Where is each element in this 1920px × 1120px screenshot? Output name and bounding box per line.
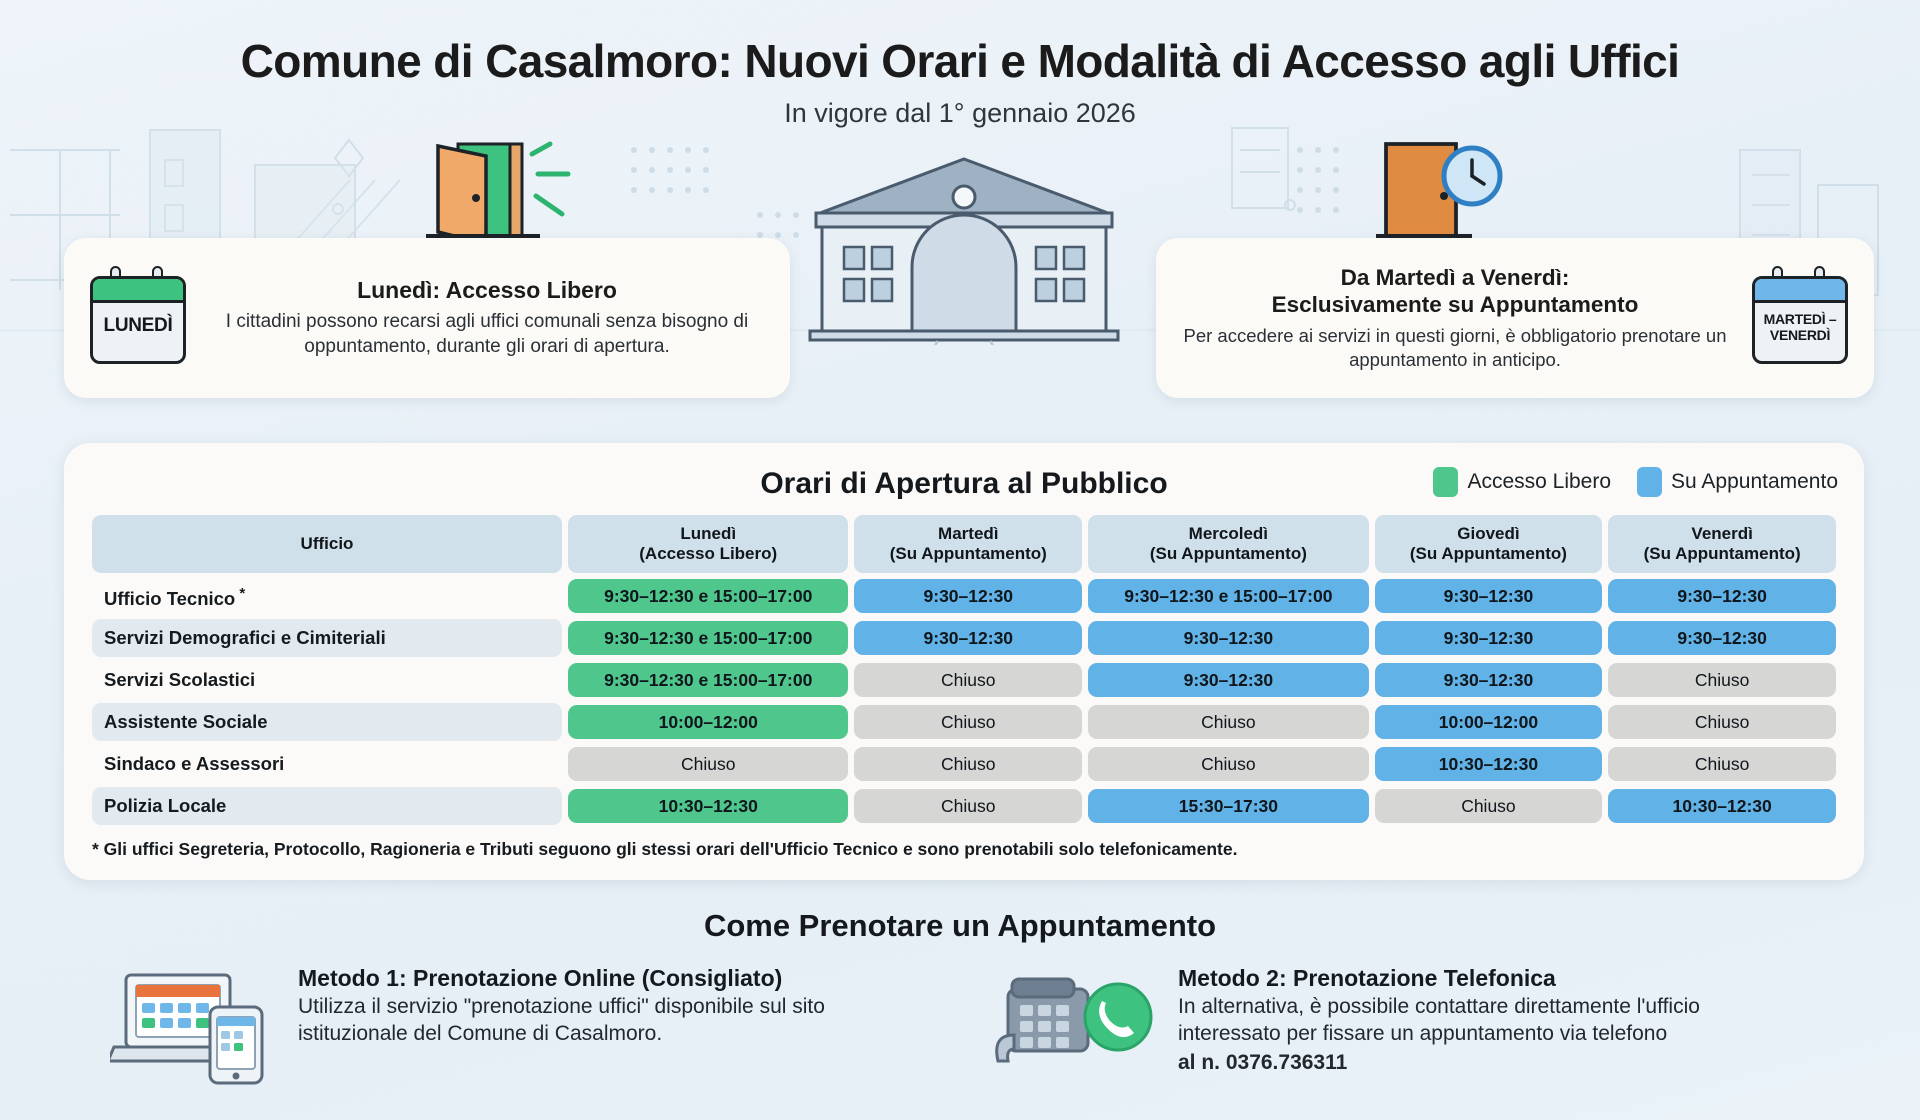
- office-cell: Servizi Scolastici: [92, 661, 562, 699]
- schedule-chip-appt: 9:30–12:30: [1375, 621, 1603, 655]
- schedule-chip-appt: 10:30–12:30: [1375, 747, 1603, 781]
- card-title-line2: Esclusivamente su Appuntamento: [1178, 291, 1732, 318]
- card-title-monday: Lunedì: Accesso Libero: [206, 277, 768, 305]
- office-cell: Assistente Sociale: [92, 703, 562, 741]
- howto-title: Come Prenotare un Appuntamento: [0, 908, 1920, 944]
- schedule-chip-appt: 10:30–12:30: [1608, 789, 1836, 823]
- schedule-cell: 9:30–12:30: [1608, 577, 1836, 615]
- page-title: Comune di Casalmoro: Nuovi Orari e Modal…: [0, 34, 1920, 88]
- schedule-chip-closed: Chiuso: [1088, 705, 1368, 739]
- schedule-cell: Chiuso: [854, 703, 1082, 741]
- schedule-cell: Chiuso: [854, 745, 1082, 783]
- schedule-chip-appt: 9:30–12:30: [1088, 621, 1368, 655]
- schedule-chip-free: 9:30–12:30 e 15:00–17:00: [568, 621, 848, 655]
- schedule-chip-appt: 9:30–12:30: [1375, 579, 1603, 613]
- card-text-monday: I cittadini possono recarsi agli uffici …: [206, 310, 768, 359]
- schedule-cell: 9:30–12:30 e 15:00–17:00: [568, 577, 848, 615]
- schedule-chip-appt: 10:00–12:00: [1375, 705, 1603, 739]
- schedule-cell: Chiuso: [854, 661, 1082, 699]
- telephone-icon: [990, 965, 1160, 1090]
- column-header-mode: (Su Appuntamento): [1094, 544, 1362, 564]
- table-footnote: * Gli uffici Segreteria, Protocollo, Rag…: [86, 839, 1842, 860]
- schedule-title: Orari di Apertura al Pubblico: [760, 467, 1167, 501]
- schedule-cell: 9:30–12:30: [1375, 577, 1603, 615]
- schedule-cell: Chiuso: [1608, 661, 1836, 699]
- office-name: Servizi Scolastici: [92, 661, 562, 699]
- schedule-cell: 10:00–12:00: [1375, 703, 1603, 741]
- schedule-chip-closed: Chiuso: [1088, 747, 1368, 781]
- calendar-icon-martedi-venerdi: MARTEDÌ – VENERDÌ: [1748, 272, 1852, 364]
- column-header-venerdi: Venerdì (Su Appuntamento): [1608, 515, 1836, 573]
- legend: Accesso Libero Su Appuntamento: [1433, 467, 1838, 497]
- column-header-office: Ufficio: [92, 515, 562, 573]
- header: Comune di Casalmoro: Nuovi Orari e Modal…: [0, 0, 1920, 129]
- column-header-martedi: Martedì (Su Appuntamento): [854, 515, 1082, 573]
- schedule-cell: 10:30–12:30: [1375, 745, 1603, 783]
- schedule-cell: Chiuso: [1088, 703, 1368, 741]
- schedule-panel: Orari di Apertura al Pubblico Accesso Li…: [64, 443, 1864, 880]
- schedule-cell: 9:30–12:30 e 15:00–17:00: [568, 619, 848, 657]
- schedule-chip-free: 9:30–12:30 e 15:00–17:00: [568, 663, 848, 697]
- schedule-chip-closed: Chiuso: [568, 747, 848, 781]
- schedule-cell: 9:30–12:30: [854, 619, 1082, 657]
- schedule-chip-closed: Chiuso: [854, 789, 1082, 823]
- legend-swatch-appointment-icon: [1637, 467, 1662, 497]
- column-header-mode: (Su Appuntamento): [1614, 544, 1830, 564]
- method-phone-title: Metodo 2: Prenotazione Telefonica: [1178, 965, 1790, 992]
- calendar-icon-lunedi: LUNEDÌ: [86, 272, 190, 364]
- card-tuesday-friday-appointment: Da Martedì a Venerdì: Esclusivamente su …: [1156, 238, 1874, 398]
- column-header-giovedi: Giovedì (Su Appuntamento): [1375, 515, 1603, 573]
- table-row: Servizi Scolastici9:30–12:30 e 15:00–17:…: [92, 661, 1836, 699]
- schedule-chip-closed: Chiuso: [1608, 705, 1836, 739]
- schedule-chip-closed: Chiuso: [854, 663, 1082, 697]
- schedule-cell: 10:00–12:00: [568, 703, 848, 741]
- schedule-cell: Chiuso: [854, 787, 1082, 825]
- card-title-line1: Da Martedì a Venerdì:: [1178, 264, 1732, 291]
- schedule-chip-closed: Chiuso: [1608, 747, 1836, 781]
- office-cell: Sindaco e Assessori: [92, 745, 562, 783]
- schedule-cell: Chiuso: [1375, 787, 1603, 825]
- schedule-chip-appt: 9:30–12:30: [854, 621, 1082, 655]
- laptop-phone-icon: [110, 965, 280, 1090]
- column-header-mode: (Su Appuntamento): [1381, 544, 1597, 564]
- calendar-label-line1: MARTEDÌ –: [1755, 311, 1845, 327]
- legend-swatch-free-icon: [1433, 467, 1458, 497]
- column-header-mode: (Su Appuntamento): [860, 544, 1076, 564]
- schedule-cell: 9:30–12:30: [1608, 619, 1836, 657]
- column-header-day: Venerdì: [1614, 524, 1830, 544]
- card-monday-free-access: LUNEDÌ Lunedì: Accesso Libero I cittadin…: [64, 238, 790, 398]
- schedule-cell: 10:30–12:30: [1608, 787, 1836, 825]
- card-text-appointment: Per accedere ai servizi in questi giorni…: [1178, 324, 1732, 372]
- schedule-chip-free: 10:30–12:30: [568, 789, 848, 823]
- table-row: Sindaco e AssessoriChiusoChiusoChiuso10:…: [92, 745, 1836, 783]
- legend-label-appointment: Su Appuntamento: [1671, 470, 1838, 494]
- schedule-chip-appt: 9:30–12:30: [1375, 663, 1603, 697]
- schedule-chip-closed: Chiuso: [854, 747, 1082, 781]
- column-header-day: Lunedì: [574, 524, 842, 544]
- method-online: Metodo 1: Prenotazione Online (Consiglia…: [110, 965, 870, 1090]
- schedule-cell: 15:30–17:30: [1088, 787, 1368, 825]
- table-row: Servizi Demografici e Cimiteriali9:30–12…: [92, 619, 1836, 657]
- office-cell: Ufficio Tecnico *: [92, 577, 562, 615]
- schedule-cell: 9:30–12:30: [1375, 661, 1603, 699]
- schedule-cell: 9:30–12:30 e 15:00–17:00: [1088, 577, 1368, 615]
- schedule-cell: Chiuso: [1608, 745, 1836, 783]
- office-name: Sindaco e Assessori: [92, 745, 562, 783]
- town-hall-icon: [790, 155, 1138, 350]
- column-header-day: Martedì: [860, 524, 1076, 544]
- table-row: Assistente Sociale10:00–12:00ChiusoChius…: [92, 703, 1836, 741]
- column-header-mercoledi: Mercoledì (Su Appuntamento): [1088, 515, 1368, 573]
- footnote-marker: *: [235, 585, 245, 602]
- method-online-text: Utilizza il servizio "prenotazione uffic…: [298, 994, 870, 1048]
- page-subtitle: In vigore dal 1° gennaio 2026: [0, 98, 1920, 129]
- method-phone-text: In alternativa, è possibile contattare d…: [1178, 994, 1790, 1048]
- schedule-chip-free: 9:30–12:30 e 15:00–17:00: [568, 579, 848, 613]
- column-header-lunedi: Lunedì (Accesso Libero): [568, 515, 848, 573]
- office-cell: Polizia Locale: [92, 787, 562, 825]
- schedule-cell: Chiuso: [1608, 703, 1836, 741]
- table-header-row: Ufficio Lunedì (Accesso Libero) Martedì …: [92, 515, 1836, 573]
- schedule-cell: 10:30–12:30: [568, 787, 848, 825]
- schedule-chip-appt: 9:30–12:30: [854, 579, 1082, 613]
- schedule-cell: 9:30–12:30: [854, 577, 1082, 615]
- calendar-label: LUNEDÌ: [93, 303, 183, 337]
- schedule-cell: Chiuso: [568, 745, 848, 783]
- method-phone: Metodo 2: Prenotazione Telefonica In alt…: [990, 965, 1790, 1090]
- table-row: Polizia Locale10:30–12:30Chiuso15:30–17:…: [92, 787, 1836, 825]
- schedule-chip-closed: Chiuso: [1608, 663, 1836, 697]
- schedule-chip-closed: Chiuso: [854, 705, 1082, 739]
- column-header-text: Ufficio: [98, 534, 556, 554]
- schedule-chip-appt: 9:30–12:30: [1608, 579, 1836, 613]
- schedule-chip-appt: 9:30–12:30: [1608, 621, 1836, 655]
- office-name: Assistente Sociale: [92, 703, 562, 741]
- schedule-chip-appt: 9:30–12:30: [1088, 663, 1368, 697]
- legend-label-free: Accesso Libero: [1467, 470, 1611, 494]
- method-phone-number: al n. 0376.736311: [1178, 1050, 1790, 1077]
- schedule-cell: 9:30–12:30: [1088, 619, 1368, 657]
- schedule-cell: Chiuso: [1088, 745, 1368, 783]
- schedule-cell: 9:30–12:30 e 15:00–17:00: [568, 661, 848, 699]
- schedule-chip-free: 10:00–12:00: [568, 705, 848, 739]
- schedule-table: Ufficio Lunedì (Accesso Libero) Martedì …: [86, 511, 1842, 829]
- legend-item-appointment: Su Appuntamento: [1637, 467, 1838, 497]
- method-online-title: Metodo 1: Prenotazione Online (Consiglia…: [298, 965, 870, 992]
- table-row: Ufficio Tecnico *9:30–12:30 e 15:00–17:0…: [92, 577, 1836, 615]
- office-name: Servizi Demografici e Cimiteriali: [92, 619, 562, 657]
- calendar-label-line2: VENERDÌ: [1755, 327, 1845, 343]
- column-header-day: Giovedì: [1381, 524, 1597, 544]
- office-name: Polizia Locale: [92, 787, 562, 825]
- legend-item-free: Accesso Libero: [1433, 467, 1611, 497]
- schedule-chip-appt: 15:30–17:30: [1088, 789, 1368, 823]
- office-cell: Servizi Demografici e Cimiteriali: [92, 619, 562, 657]
- column-header-day: Mercoledì: [1094, 524, 1362, 544]
- schedule-cell: 9:30–12:30: [1375, 619, 1603, 657]
- schedule-chip-closed: Chiuso: [1375, 789, 1603, 823]
- schedule-cell: 9:30–12:30: [1088, 661, 1368, 699]
- schedule-chip-appt: 9:30–12:30 e 15:00–17:00: [1088, 579, 1368, 613]
- office-name: Ufficio Tecnico *: [92, 577, 562, 615]
- column-header-mode: (Accesso Libero): [574, 544, 842, 564]
